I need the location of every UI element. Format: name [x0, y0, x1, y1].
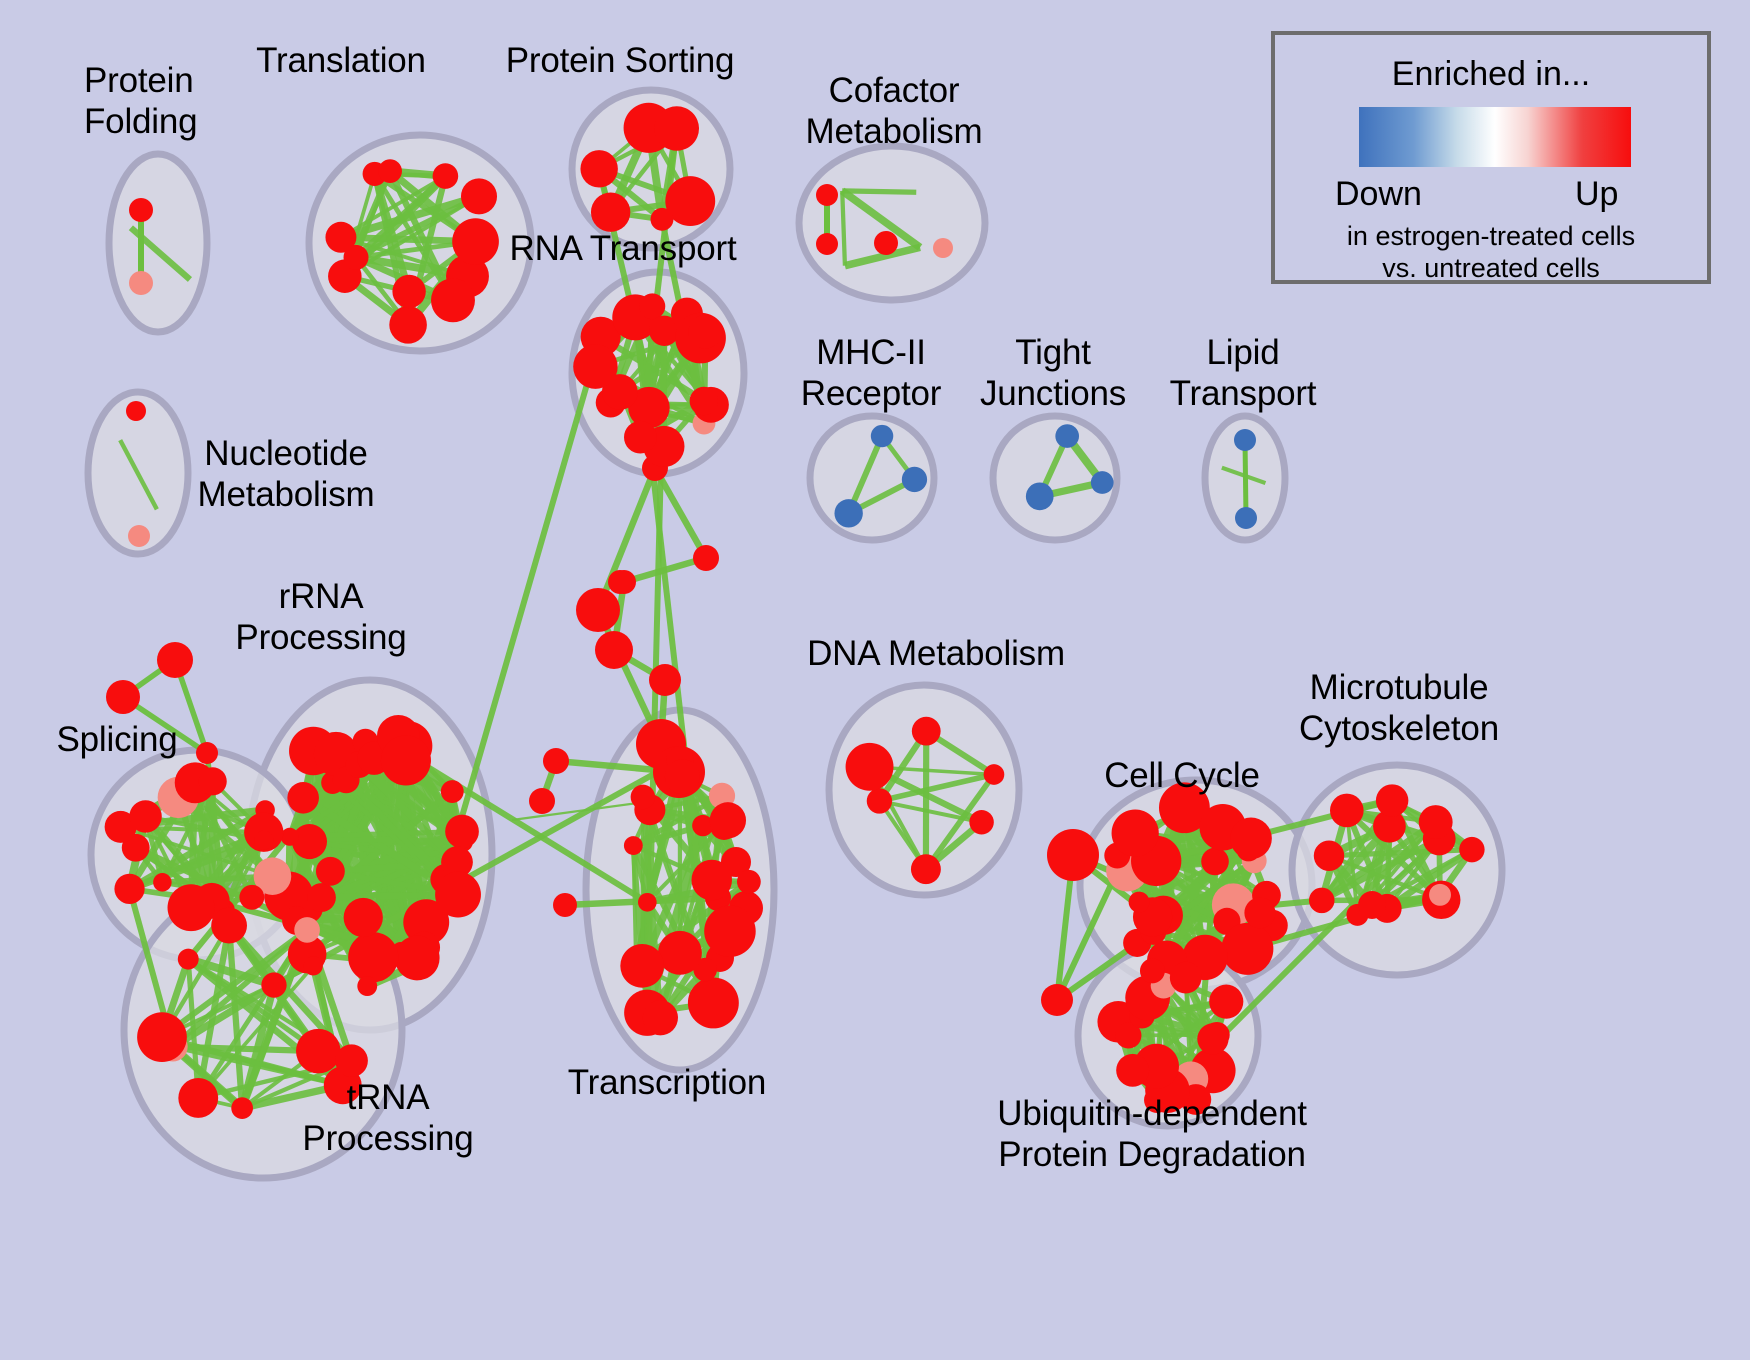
network-node-translation[interactable]	[461, 178, 497, 214]
network-node-lipid-transport[interactable]	[1234, 429, 1256, 451]
network-edge	[842, 191, 916, 192]
cluster-label-ubiquitin-protein-degradation: Ubiquitin-dependent Protein Degradation	[0, 1093, 1750, 1175]
legend-caption-line-2: vs. untreated cells	[1275, 253, 1707, 284]
network-node-rna-transport[interactable]	[639, 293, 665, 319]
network-node-transcription[interactable]	[643, 1000, 678, 1035]
network-node-lipid-transport[interactable]	[1235, 507, 1257, 529]
legend-title: Enriched in...	[1275, 55, 1707, 94]
network-node-microtubule-cytoskeleton[interactable]	[1309, 888, 1335, 914]
network-node-splicing[interactable]	[114, 874, 144, 904]
network-node-cell-cycle-satellite[interactable]	[1041, 984, 1073, 1016]
network-node-mhc-ii-receptor[interactable]	[902, 467, 927, 492]
enrichment-map-figure: Protein FoldingTranslationProtein Sortin…	[0, 0, 1750, 1360]
network-node-cell-cycle-satellite[interactable]	[1047, 829, 1099, 881]
network-node-protein-folding[interactable]	[129, 271, 153, 295]
cluster-label-cell-cycle: Cell Cycle	[0, 755, 1750, 796]
network-node-trna-processing[interactable]	[304, 956, 323, 975]
network-node-trna-processing[interactable]	[178, 949, 199, 970]
network-node-protein-sorting[interactable]	[580, 150, 617, 187]
network-node-translation[interactable]	[433, 163, 459, 189]
cluster-label-rna-transport: RNA Transport	[0, 228, 1246, 269]
network-node-rrna-processing[interactable]	[344, 898, 383, 937]
network-node-ubiquitin-protein-degradation[interactable]	[1197, 1023, 1228, 1054]
network-node-cell-cycle[interactable]	[1221, 923, 1273, 975]
network-node-trna-processing[interactable]	[137, 1012, 187, 1062]
cluster-label-microtubule-cytoskeleton: Microtubule Cytoskeleton	[0, 667, 1750, 749]
network-node-rrna-processing[interactable]	[357, 976, 377, 996]
network-node-trna-processing[interactable]	[261, 972, 286, 997]
network-node-protein-folding[interactable]	[129, 198, 153, 222]
network-node-cell-cycle[interactable]	[1112, 809, 1159, 856]
network-node-dna-metabolism[interactable]	[911, 854, 941, 884]
cluster-label-lipid-transport: Lipid Transport	[0, 332, 1750, 414]
network-node-backbone[interactable]	[693, 545, 719, 571]
network-node-microtubule-cytoskeleton[interactable]	[1459, 837, 1484, 862]
network-node-rrna-processing[interactable]	[307, 883, 336, 912]
network-node-transcription[interactable]	[704, 905, 756, 957]
network-node-rrna-processing[interactable]	[445, 815, 479, 849]
network-node-transcription[interactable]	[737, 870, 761, 894]
network-node-microtubule-cytoskeleton[interactable]	[1419, 805, 1453, 839]
network-node-ubiquitin-protein-degradation[interactable]	[1209, 985, 1243, 1019]
network-node-trna-processing[interactable]	[294, 917, 320, 943]
network-node-dna-metabolism[interactable]	[969, 810, 993, 834]
legend-panel: Enriched in... Down Up in estrogen-treat…	[1271, 31, 1711, 284]
network-node-rrna-processing[interactable]	[348, 932, 398, 982]
network-node-translation[interactable]	[392, 275, 425, 308]
network-node-nucleotide-metabolism[interactable]	[128, 525, 150, 547]
network-node-cofactor-metabolism[interactable]	[816, 184, 838, 206]
network-node-ubiquitin-protein-degradation[interactable]	[1140, 958, 1165, 983]
network-node-mhc-ii-receptor[interactable]	[871, 425, 893, 447]
network-node-tight-junctions[interactable]	[1091, 471, 1114, 494]
network-node-transcription[interactable]	[710, 802, 746, 838]
network-node-microtubule-cytoskeleton[interactable]	[1429, 884, 1451, 906]
network-node-tight-junctions[interactable]	[1026, 483, 1054, 511]
network-node-transcription[interactable]	[688, 977, 739, 1028]
network-node-transcription[interactable]	[658, 931, 702, 975]
network-node-transcription[interactable]	[691, 860, 732, 901]
network-node-rrna-processing[interactable]	[395, 936, 440, 981]
network-node-cell-cycle[interactable]	[1201, 848, 1229, 876]
legend-caption-line-1: in estrogen-treated cells	[1275, 221, 1707, 252]
network-edge	[1245, 440, 1246, 518]
network-node-protein-sorting[interactable]	[591, 192, 630, 231]
network-node-ubiquitin-protein-degradation[interactable]	[1170, 962, 1202, 994]
network-node-microtubule-cytoskeleton[interactable]	[1314, 840, 1345, 871]
network-node-transcription[interactable]	[620, 944, 664, 988]
network-node-splicing[interactable]	[239, 885, 264, 910]
network-node-splicing[interactable]	[129, 800, 161, 832]
network-node-mhc-ii-receptor[interactable]	[834, 499, 862, 527]
cluster-label-nucleotide-metabolism: Nucleotide Metabolism	[0, 433, 572, 515]
network-node-cell-cycle[interactable]	[1129, 892, 1150, 913]
network-node-cell-cycle[interactable]	[1244, 897, 1275, 928]
network-node-splicing[interactable]	[153, 873, 172, 892]
network-node-cell-cycle[interactable]	[1230, 818, 1272, 860]
network-node-translation[interactable]	[431, 278, 475, 322]
legend-low-label: Down	[1335, 175, 1422, 214]
network-node-rrna-processing[interactable]	[316, 857, 345, 886]
network-node-tight-junctions[interactable]	[1055, 424, 1079, 448]
network-node-backbone[interactable]	[553, 893, 577, 917]
network-node-microtubule-cytoskeleton[interactable]	[1358, 891, 1386, 919]
network-node-splicing[interactable]	[168, 884, 215, 931]
network-node-transcription[interactable]	[624, 836, 643, 855]
network-node-rrna-processing[interactable]	[281, 828, 299, 846]
legend-color-gradient-bar	[1359, 107, 1631, 167]
network-node-rrna-processing[interactable]	[435, 872, 481, 918]
legend-high-label: Up	[1575, 175, 1618, 214]
network-node-microtubule-cytoskeleton[interactable]	[1330, 794, 1364, 828]
network-node-trna-processing[interactable]	[211, 908, 247, 944]
network-node-translation[interactable]	[378, 159, 402, 183]
network-node-transcription[interactable]	[638, 893, 657, 912]
network-node-splicing[interactable]	[254, 830, 273, 849]
network-node-rna-transport[interactable]	[624, 421, 657, 454]
